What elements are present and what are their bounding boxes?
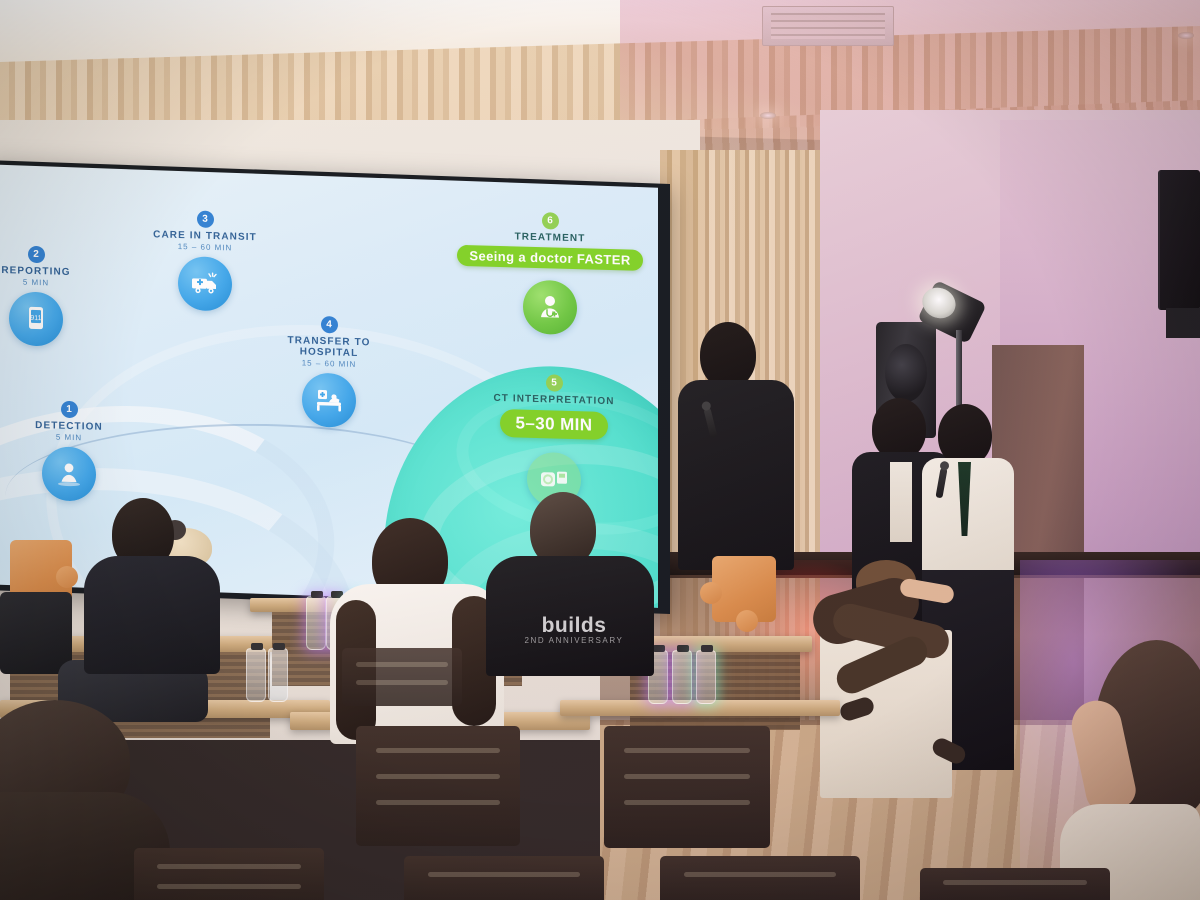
ambulance-icon: [178, 256, 232, 312]
person-collapsed-icon: [42, 446, 96, 502]
puzzle-knob: [700, 582, 722, 604]
presentation-photo-scene: 2 REPORTING 5 MIN 911 3 CARE IN TRANSIT …: [0, 0, 1200, 900]
presenter-left-suit: [678, 380, 794, 570]
step-title: CT INTERPRETATION: [454, 392, 654, 409]
chair: [404, 856, 604, 900]
puzzle-knob: [56, 566, 78, 588]
step-number-badge: 4: [321, 316, 338, 333]
water-bottle: [306, 596, 326, 650]
chair: [920, 868, 1110, 900]
water-bottle: [696, 650, 716, 704]
slide-step-transfer-to-hospital: 4 TRANSFER TO HOSPITAL 15 – 60 MIN: [274, 315, 384, 429]
tshirt-logo-text: builds: [516, 614, 632, 638]
audience-body: [84, 556, 220, 674]
downlight-icon: [760, 112, 776, 119]
step-time: 5 MIN: [14, 431, 124, 443]
presenter-middle-hair: [872, 398, 926, 460]
chair: [342, 648, 462, 706]
svg-text:911: 911: [30, 315, 41, 322]
step-number-badge: 1: [61, 401, 78, 418]
step-title: TRANSFER TO HOSPITAL: [274, 335, 384, 360]
hospital-bed-icon: [302, 372, 356, 428]
tshirt-logo-subtext: 2ND ANNIVERSARY: [516, 636, 632, 645]
chair: [660, 856, 860, 900]
step-number-badge: 6: [542, 212, 559, 229]
phone-911-icon: 911: [9, 291, 63, 347]
doctor-icon: [523, 280, 577, 336]
chair: [356, 726, 520, 846]
slide-step-reporting: 2 REPORTING 5 MIN 911: [0, 245, 84, 348]
water-bottle: [672, 650, 692, 704]
step-number-badge: 2: [28, 246, 45, 263]
ct-time-badge: 5–30 MIN: [500, 409, 609, 440]
presenter-right-hair: [938, 404, 992, 466]
tv-wall-mount: [1166, 308, 1200, 338]
step-title: REPORTING: [0, 265, 84, 279]
water-bottle: [246, 648, 266, 702]
laptop: [0, 592, 72, 674]
wall-mounted-tv: [1158, 170, 1200, 310]
presenter-middle-shirt: [890, 462, 912, 542]
slide-step-detection: 1 DETECTION 5 MIN: [14, 399, 124, 502]
step-time: 15 – 60 MIN: [274, 358, 384, 370]
chair: [134, 848, 324, 900]
step-time: 5 MIN: [0, 277, 84, 289]
step-number-badge: 5: [546, 374, 563, 391]
step-number-badge: 3: [197, 210, 214, 227]
presenter-left-hair: [700, 322, 756, 388]
slide-step-ct-interpretation: 5 CT INTERPRETATION 5–30 MIN: [454, 372, 654, 510]
downlight-icon: [1178, 32, 1194, 39]
puzzle-knob: [736, 610, 758, 632]
treatment-badge: Seeing a doctor FASTER: [457, 245, 642, 271]
slide-step-care-in-transit: 3 CARE IN TRANSIT 15 – 60 MIN: [141, 209, 269, 313]
water-bottle: [268, 648, 288, 702]
slide-step-treatment: 6 TREATMENT Seeing a doctor FASTER: [430, 209, 658, 338]
chair: [604, 726, 770, 848]
air-conditioner-vent: [762, 6, 894, 46]
